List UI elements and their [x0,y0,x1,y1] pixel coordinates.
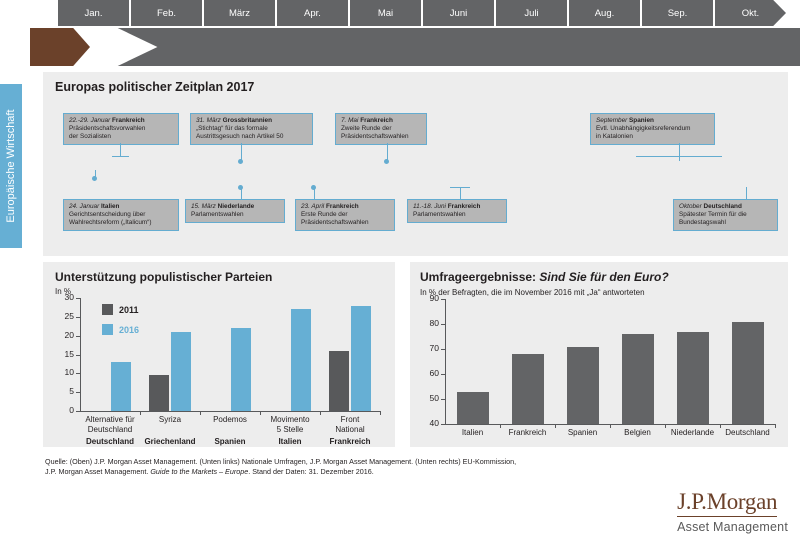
x-axis-label: Niederlande [663,428,723,438]
y-tick-label: 40 [421,418,439,428]
bar-value [512,354,544,424]
y-tick-label: 10 [56,367,74,377]
euro-chart-title-italic: Sind Sie für den Euro? [539,270,668,284]
timeline-callout: 7. Mai FrankreichZweite Runde derPräside… [335,113,427,145]
x-axis-label: Spanien [553,428,613,438]
callout-country: Italien [101,203,119,210]
source-line-1: Quelle: (Oben) J.P. Morgan Asset Managem… [45,457,516,466]
y-tick-mark [441,299,445,300]
callout-country: Spanien [629,117,654,124]
callout-line1: Evtl. Unabhängigkeitsreferendum [596,125,691,132]
euro-chart-subtitle: In % der Befragten, die im November 2016… [420,288,645,297]
callout-line1: Spätester Termin für die [679,211,747,218]
timeline-callout: 31. März Grossbritannien„Stichtag“ für d… [190,113,313,145]
bar-2016 [351,306,371,411]
callout-country: Deutschland [704,203,742,210]
timeline-month-apr: Apr. [277,0,348,26]
timeline-callout: 24. Januar ItalienGerichtsentscheidung ü… [63,199,179,231]
y-tick-label: 0 [56,405,74,415]
y-tick-mark [76,336,80,337]
callout-line2: Präsidentschaftswahlen [341,133,409,140]
callout-line2: in Katalonien [596,133,633,140]
logo-wordmark: J.P.Morgan [677,489,777,517]
x-label-line2: Deutschland [88,425,132,434]
x-label-line1: Alternative für [85,415,134,424]
x-label-line2: 5 Stelle [277,425,304,434]
x-label-line1: Podemos [213,415,247,424]
callout-country: Frankreich [112,117,145,124]
callout-line1: Parlamentswahlen [191,211,244,218]
callout-country: Niederlande [218,203,255,210]
sidebar-tab-label: Europäische Wirtschaft [5,95,17,237]
bar-value [677,332,709,425]
callout-country: Grossbritannien [223,117,272,124]
legend-item-2011: 2011 [102,304,139,315]
timeline-event-dot [384,159,389,164]
y-axis [80,298,81,412]
x-axis-country-label: Frankreich [312,437,388,446]
legend-label: 2016 [119,325,139,335]
timeline-month-mai: Mai [350,0,421,26]
callout-date: 23. April [301,203,324,210]
header-bar [78,28,800,66]
y-tick-mark [441,324,445,325]
timeline-callout: 22.-29. Januar FrankreichPräsidentschaft… [63,113,179,145]
page-header [0,28,800,66]
callout-connector [679,143,680,161]
callout-country: Frankreich [360,117,393,124]
timeline-month-aug: Aug. [569,0,640,26]
timeline-event-dot [238,159,243,164]
y-tick-mark [76,317,80,318]
callout-date: 31. März [196,117,221,124]
x-label-line2: National [335,425,364,434]
timeline-month-okt: Okt. [715,0,786,26]
bar-value [457,392,489,425]
bar-2011 [329,351,349,411]
callout-line2: Präsidentschaftswahlen [301,219,369,226]
y-tick-label: 80 [421,318,439,328]
y-tick-mark [441,399,445,400]
y-axis [445,299,446,425]
callout-line2: Austrittsgesuch nach Artikel 50 [196,133,283,140]
bar-2016 [111,362,131,411]
bar-2016 [291,309,311,411]
callout-country: Frankreich [326,203,359,210]
x-axis [80,411,380,412]
euro-chart-title-plain: Umfrageergebnisse: [420,270,539,284]
timeline-event-dot [238,185,243,190]
callout-date: 22.-29. Januar [69,117,110,124]
legend-swatch [102,304,113,315]
callout-line2: Wahlrechtsreform („Italicum“) [69,219,152,226]
callout-connector [450,187,470,188]
source-line-2a: J.P. Morgan Asset Management. [45,467,150,476]
legend-item-2016: 2016 [102,324,139,335]
euro-chart-title: Umfrageergebnisse: Sind Sie für den Euro… [420,270,669,284]
y-tick-mark [441,424,445,425]
x-axis-label: Deutschland [718,428,778,438]
callout-connector [120,143,121,157]
y-tick-label: 30 [56,292,74,302]
callout-line1: „Stichtag“ für das formale [196,125,268,132]
timeline-month-feb: Feb. [131,0,202,26]
callout-connector [746,187,747,199]
callout-date: September [596,117,627,124]
bar-2016 [231,328,251,411]
bar-value [567,347,599,425]
callout-date: Oktober [679,203,702,210]
source-note: Quelle: (Oben) J.P. Morgan Asset Managem… [45,457,665,477]
y-tick-mark [76,411,80,412]
timeline-callout: September SpanienEvtl. Unabhängigkeitsre… [590,113,715,145]
x-axis-label: FrontNational [312,415,388,434]
callout-line1: Gerichtsentscheidung über [69,211,145,218]
timeline-month-jan: Jan. [58,0,129,26]
y-tick-label: 15 [56,349,74,359]
y-tick-label: 60 [421,368,439,378]
x-label-line1: Front [341,415,360,424]
callout-line2: Bundestagswahl [679,219,726,226]
timeline-month-märz: März [204,0,275,26]
y-tick-mark [76,355,80,356]
sidebar-tab-europaeische-wirtschaft[interactable]: Europäische Wirtschaft [0,84,22,248]
jpmorgan-logo: J.P.Morgan Asset Management [677,489,788,534]
callout-date: 24. Januar [69,203,99,210]
y-tick-label: 90 [421,293,439,303]
timeline-title: Europas politischer Zeitplan 2017 [55,80,254,94]
timeline-month-sep: Sep. [642,0,713,26]
callout-connector [95,170,96,179]
populist-chart-title: Unterstützung populistischer Parteien [55,270,272,284]
timeline-callout: 23. April FrankreichErste Runde derPräsi… [295,199,395,231]
callout-line1: Präsidentschaftsvorwahlen [69,125,145,132]
legend-swatch [102,324,113,335]
x-axis-label: Frankreich [498,428,558,438]
timeline-callout: Oktober DeutschlandSpätester Termin für … [673,199,778,231]
logo-tagline: Asset Management [677,520,788,534]
y-tick-mark [441,374,445,375]
brand-chevron-icon [30,28,90,66]
callout-date: 15. März [191,203,216,210]
callout-connector [112,156,129,157]
callout-connector [636,156,722,157]
timeline-callout: 15. März NiederlandeParlamentswahlen [185,199,285,223]
y-tick-label: 25 [56,311,74,321]
source-line-2-italic: Guide to the Markets – Europe [150,467,248,476]
timeline-month-juli: Juli [496,0,567,26]
x-label-line1: Movimento [270,415,309,424]
x-axis-label: Italien [443,428,503,438]
legend-label: 2011 [119,305,139,315]
bar-value [732,322,764,425]
bar-2016 [171,332,191,411]
callout-country: Frankreich [448,203,481,210]
y-tick-label: 70 [421,343,439,353]
callout-date: 11.-18. Juni [413,203,446,210]
timeline-callout: 11.-18. Juni FrankreichParlamentswahlen [407,199,507,223]
callout-connector [460,187,461,199]
callout-line1: Zweite Runde der [341,125,391,132]
y-tick-label: 5 [56,386,74,396]
callout-line1: Parlamentswahlen [413,211,466,218]
timeline-month-juni: Juni [423,0,494,26]
callout-date: 7. Mai [341,117,358,124]
bar-2011 [149,375,169,411]
timeline-event-dot [311,185,316,190]
callout-line1: Erste Runde der [301,211,348,218]
y-tick-label: 20 [56,330,74,340]
y-tick-mark [76,373,80,374]
callout-line2: der Sozialisten [69,133,111,140]
y-tick-label: 50 [421,393,439,403]
bar-value [622,334,654,424]
x-axis-label: Belgien [608,428,668,438]
y-tick-mark [76,392,80,393]
y-tick-mark [441,349,445,350]
y-tick-mark [76,298,80,299]
x-label-line1: Syriza [159,415,181,424]
source-line-2b: . Stand der Daten: 31. Dezember 2016. [248,467,373,476]
